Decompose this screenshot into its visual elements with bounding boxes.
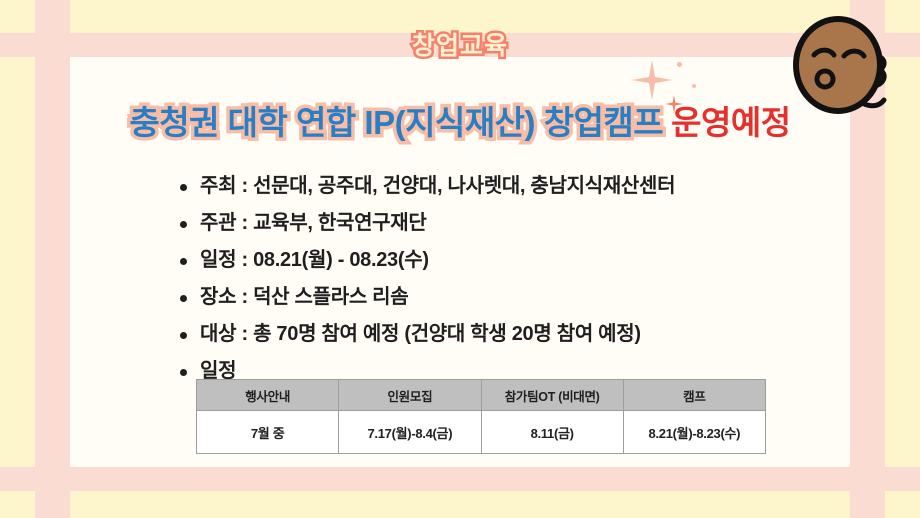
list-item: 주관 : 교육부, 한국연구재단 (178, 205, 675, 242)
potato-mascot-icon (784, 12, 904, 117)
table-header-cell: 인원모집 (339, 380, 481, 411)
page-title: 충청권 대학 연합 IP(지식재산) 창업캠프운영예정 (0, 96, 920, 144)
page-title-main: 충청권 대학 연합 IP(지식재산) 창업캠프 (129, 104, 663, 141)
list-item: 일정 : 08.21(월) - 08.23(수) (178, 242, 675, 279)
bullet-list: 주최 : 선문대, 공주대, 건양대, 나사렛대, 충남지식재산센터 주관 : … (178, 168, 675, 390)
slide-canvas: 창업교육 충청권 대학 연합 IP(지식재산) 창업캠프운영예정 주최 : 선문… (0, 0, 920, 518)
list-item: 대상 : 총 70명 참여 예정 (건양대 학생 20명 참여 예정) (178, 316, 675, 353)
schedule-table: 행사안내 인원모집 참가팀OT (비대면) 캠프 7월 중 7.17(월)-8.… (196, 379, 766, 454)
background-stripe-horizontal-bottom (0, 467, 920, 491)
table-cell: 8.21(월)-8.23(수) (623, 411, 765, 454)
eyebrow-title: 창업교육 (0, 26, 920, 62)
table-cell: 7월 중 (197, 411, 339, 454)
list-item: 주최 : 선문대, 공주대, 건양대, 나사렛대, 충남지식재산센터 (178, 168, 675, 205)
table-header-cell: 행사안내 (197, 380, 339, 411)
table-cell: 7.17(월)-8.4(금) (339, 411, 481, 454)
table-header-cell: 참가팀OT (비대면) (481, 380, 623, 411)
list-item: 장소 : 덕산 스플라스 리솜 (178, 279, 675, 316)
table-cell: 8.11(금) (481, 411, 623, 454)
table-header-row: 행사안내 인원모집 참가팀OT (비대면) 캠프 (197, 380, 766, 411)
table-row: 7월 중 7.17(월)-8.4(금) 8.11(금) 8.21(월)-8.23… (197, 411, 766, 454)
table-header-cell: 캠프 (623, 380, 765, 411)
page-title-tail: 운영예정 (671, 104, 790, 141)
background-stripe-vertical-left (35, 0, 70, 518)
